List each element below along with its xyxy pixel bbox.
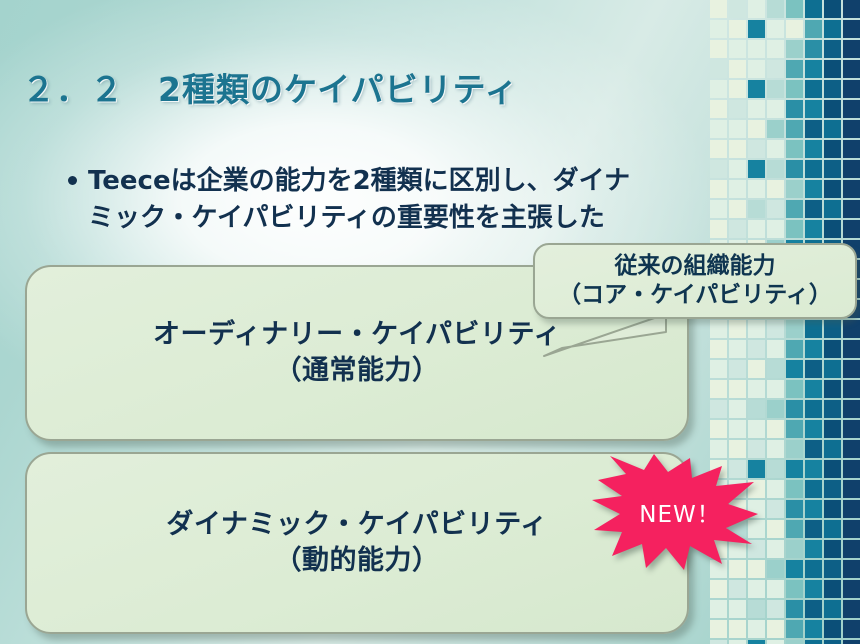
mosaic-tile [767, 100, 784, 118]
mosaic-tile [729, 320, 746, 338]
mosaic-tile [710, 420, 727, 438]
mosaic-tile [767, 180, 784, 198]
mosaic-tile [843, 540, 860, 558]
mosaic-tile [843, 440, 860, 458]
mosaic-tile [824, 160, 841, 178]
mosaic-tile [843, 320, 860, 338]
mosaic-tile [729, 360, 746, 378]
mosaic-tile [748, 140, 765, 158]
mosaic-tile [786, 20, 803, 38]
mosaic-tile [805, 620, 822, 638]
mosaic-tile [805, 0, 822, 18]
mosaic-tile [748, 340, 765, 358]
mosaic-tile [729, 620, 746, 638]
mosaic-tile [748, 420, 765, 438]
mosaic-tile [767, 580, 784, 598]
mosaic-tile [710, 140, 727, 158]
mosaic-tile [824, 440, 841, 458]
mosaic-tile [843, 500, 860, 518]
mosaic-tile [786, 340, 803, 358]
mosaic-tile [767, 80, 784, 98]
mosaic-tile [710, 320, 727, 338]
mosaic-tile [767, 500, 784, 518]
mosaic-tile [767, 320, 784, 338]
mosaic-tile [748, 60, 765, 78]
mosaic-tile [710, 20, 727, 38]
mosaic-tile [843, 40, 860, 58]
mosaic-tile [824, 520, 841, 538]
mosaic-tile [824, 60, 841, 78]
mosaic-tile [786, 460, 803, 478]
mosaic-tile [824, 340, 841, 358]
mosaic-tile [786, 120, 803, 138]
mosaic-tile [786, 0, 803, 18]
mosaic-tile [786, 580, 803, 598]
mosaic-tile [767, 440, 784, 458]
mosaic-tile [767, 220, 784, 238]
mosaic-tile [824, 100, 841, 118]
mosaic-tile [748, 220, 765, 238]
mosaic-tile [767, 480, 784, 498]
mosaic-tile [824, 360, 841, 378]
slide-canvas: ２．２ 2種類のケイパビリティ Teeceは企業の能力を2種類に区別し、ダイナ … [0, 0, 860, 644]
mosaic-tile [710, 580, 727, 598]
mosaic-tile [767, 600, 784, 618]
mosaic-tile [805, 540, 822, 558]
mosaic-tile [786, 600, 803, 618]
mosaic-tile [824, 400, 841, 418]
mosaic-tile [824, 20, 841, 38]
mosaic-tile [767, 20, 784, 38]
mosaic-tile [843, 600, 860, 618]
mosaic-tile [710, 600, 727, 618]
mosaic-tile [824, 140, 841, 158]
mosaic-tile [843, 580, 860, 598]
mosaic-tile [805, 400, 822, 418]
mosaic-tile [786, 180, 803, 198]
mosaic-tile [843, 20, 860, 38]
callout-bubble[interactable]: 従来の組織能力 （コア・ケイパビリティ） [533, 243, 857, 319]
mosaic-tile [843, 220, 860, 238]
mosaic-tile [767, 60, 784, 78]
mosaic-tile [786, 60, 803, 78]
mosaic-tile [786, 440, 803, 458]
new-badge[interactable]: NEW！ [592, 452, 760, 572]
bullet-paragraph: Teeceは企業の能力を2種類に区別し、ダイナ ミック・ケイパビリティの重要性を… [68, 163, 748, 237]
mosaic-tile [729, 100, 746, 118]
mosaic-tile [805, 500, 822, 518]
mosaic-tile [767, 420, 784, 438]
mosaic-tile [748, 380, 765, 398]
mosaic-tile [729, 0, 746, 18]
ordinary-capability-title: オーディナリー・ケイパビリティ [153, 317, 561, 353]
mosaic-tile [786, 140, 803, 158]
mosaic-tile [843, 560, 860, 578]
mosaic-tile [805, 440, 822, 458]
mosaic-tile [767, 120, 784, 138]
mosaic-tile [786, 640, 803, 644]
mosaic-tile [824, 480, 841, 498]
mosaic-tile [824, 80, 841, 98]
mosaic-tile [767, 460, 784, 478]
mosaic-tile [710, 120, 727, 138]
mosaic-tile [729, 380, 746, 398]
mosaic-tile [729, 580, 746, 598]
bullet-line-2: ミック・ケイパビリティの重要性を主張した [88, 200, 748, 237]
mosaic-tile [710, 40, 727, 58]
mosaic-tile [824, 120, 841, 138]
mosaic-tile [710, 80, 727, 98]
mosaic-tile [729, 640, 746, 644]
mosaic-tile [748, 0, 765, 18]
mosaic-tile [805, 140, 822, 158]
mosaic-tile [786, 540, 803, 558]
mosaic-tile [710, 640, 727, 644]
mosaic-tile [843, 0, 860, 18]
mosaic-tile [786, 560, 803, 578]
mosaic-tile [805, 380, 822, 398]
mosaic-tile [843, 380, 860, 398]
mosaic-tile [767, 400, 784, 418]
mosaic-tile [748, 160, 765, 178]
mosaic-tile [729, 40, 746, 58]
bullet-dot-icon [68, 176, 77, 185]
mosaic-tile [729, 120, 746, 138]
mosaic-tile [767, 160, 784, 178]
mosaic-tile [767, 380, 784, 398]
mosaic-tile [843, 140, 860, 158]
mosaic-tile [824, 420, 841, 438]
mosaic-tile [824, 560, 841, 578]
mosaic-tile [824, 200, 841, 218]
mosaic-tile [805, 180, 822, 198]
mosaic-tile [843, 200, 860, 218]
mosaic-tile [748, 120, 765, 138]
mosaic-tile [805, 480, 822, 498]
mosaic-tile [843, 460, 860, 478]
mosaic-tile [710, 620, 727, 638]
mosaic-tile [824, 580, 841, 598]
mosaic-tile [843, 360, 860, 378]
mosaic-tile [729, 80, 746, 98]
mosaic-tile [710, 60, 727, 78]
mosaic-tile [805, 20, 822, 38]
mosaic-tile [805, 360, 822, 378]
mosaic-tile [843, 80, 860, 98]
mosaic-tile [805, 520, 822, 538]
mosaic-tile [843, 120, 860, 138]
mosaic-tile [805, 200, 822, 218]
mosaic-tile [786, 620, 803, 638]
mosaic-tile [748, 40, 765, 58]
mosaic-tile [729, 140, 746, 158]
mosaic-tile [710, 100, 727, 118]
dynamic-capability-subtitle: （動的能力） [275, 543, 440, 579]
mosaic-tile [824, 220, 841, 238]
mosaic-tile [786, 480, 803, 498]
mosaic-tile [710, 0, 727, 18]
mosaic-tile [748, 580, 765, 598]
mosaic-tile [805, 80, 822, 98]
mosaic-tile [843, 640, 860, 644]
callout-line-2: （コア・ケイパビリティ） [558, 281, 832, 310]
mosaic-tile [805, 100, 822, 118]
mosaic-tile [824, 460, 841, 478]
mosaic-tile [786, 80, 803, 98]
mosaic-tile [843, 620, 860, 638]
mosaic-tile [729, 60, 746, 78]
mosaic-tile [748, 200, 765, 218]
mosaic-tile [843, 160, 860, 178]
mosaic-tile [748, 20, 765, 38]
mosaic-tile [786, 100, 803, 118]
mosaic-tile [805, 160, 822, 178]
mosaic-tile [805, 60, 822, 78]
page-title: ２．２ 2種類のケイパビリティ [22, 63, 519, 111]
dynamic-capability-box[interactable]: ダイナミック・ケイパビリティ （動的能力） [25, 452, 689, 634]
mosaic-tile [843, 420, 860, 438]
mosaic-tile [824, 320, 841, 338]
mosaic-tile [805, 340, 822, 358]
mosaic-tile [805, 40, 822, 58]
starburst-shape [592, 454, 758, 570]
mosaic-tile [729, 420, 746, 438]
mosaic-tile [786, 400, 803, 418]
ordinary-capability-subtitle: （通常能力） [275, 353, 440, 389]
mosaic-tile [748, 80, 765, 98]
mosaic-tile [767, 0, 784, 18]
mosaic-tile [767, 520, 784, 538]
mosaic-tile [786, 320, 803, 338]
mosaic-tile [805, 600, 822, 618]
mosaic-tile [805, 420, 822, 438]
mosaic-tile [729, 400, 746, 418]
mosaic-tile [805, 120, 822, 138]
callout-line-1: 従来の組織能力 [615, 252, 776, 281]
mosaic-tile [824, 640, 841, 644]
mosaic-tile [767, 340, 784, 358]
mosaic-tile [748, 360, 765, 378]
mosaic-tile [824, 600, 841, 618]
mosaic-tile [729, 340, 746, 358]
mosaic-tile [805, 460, 822, 478]
mosaic-tile [767, 200, 784, 218]
mosaic-tile [786, 380, 803, 398]
mosaic-tile [805, 580, 822, 598]
mosaic-tile [843, 180, 860, 198]
dynamic-capability-title: ダイナミック・ケイパビリティ [166, 507, 547, 543]
mosaic-tile [824, 620, 841, 638]
mosaic-tile [843, 340, 860, 358]
mosaic-tile [786, 360, 803, 378]
mosaic-tile [824, 180, 841, 198]
mosaic-tile [805, 560, 822, 578]
mosaic-tile [786, 220, 803, 238]
mosaic-tile [805, 220, 822, 238]
mosaic-tile [843, 520, 860, 538]
mosaic-tile [767, 140, 784, 158]
mosaic-tile [805, 320, 822, 338]
mosaic-tile [786, 160, 803, 178]
mosaic-tile [710, 380, 727, 398]
bullet-line-1: Teeceは企業の能力を2種類に区別し、ダイナ [88, 163, 748, 200]
mosaic-tile [786, 200, 803, 218]
mosaic-tile [767, 360, 784, 378]
mosaic-tile [748, 400, 765, 418]
mosaic-tile [748, 100, 765, 118]
starburst-icon [592, 452, 760, 572]
mosaic-tile [843, 400, 860, 418]
mosaic-tile [710, 360, 727, 378]
mosaic-tile [767, 560, 784, 578]
mosaic-tile [824, 40, 841, 58]
mosaic-tile [843, 60, 860, 78]
mosaic-tile [824, 0, 841, 18]
mosaic-tile [729, 600, 746, 618]
mosaic-tile [843, 480, 860, 498]
mosaic-tile [748, 620, 765, 638]
mosaic-tile [824, 500, 841, 518]
mosaic-tile [710, 400, 727, 418]
mosaic-tile [805, 640, 822, 644]
mosaic-tile [748, 180, 765, 198]
mosaic-tile [824, 380, 841, 398]
mosaic-tile [748, 320, 765, 338]
mosaic-tile [824, 540, 841, 558]
mosaic-tile [767, 620, 784, 638]
mosaic-tile [786, 40, 803, 58]
mosaic-tile [767, 540, 784, 558]
mosaic-tile [729, 20, 746, 38]
mosaic-tile [767, 40, 784, 58]
mosaic-tile [786, 520, 803, 538]
mosaic-tile [748, 640, 765, 644]
mosaic-tile [767, 640, 784, 644]
mosaic-tile [748, 600, 765, 618]
mosaic-tile [843, 100, 860, 118]
mosaic-tile [710, 340, 727, 358]
mosaic-tile [786, 420, 803, 438]
mosaic-tile [786, 500, 803, 518]
